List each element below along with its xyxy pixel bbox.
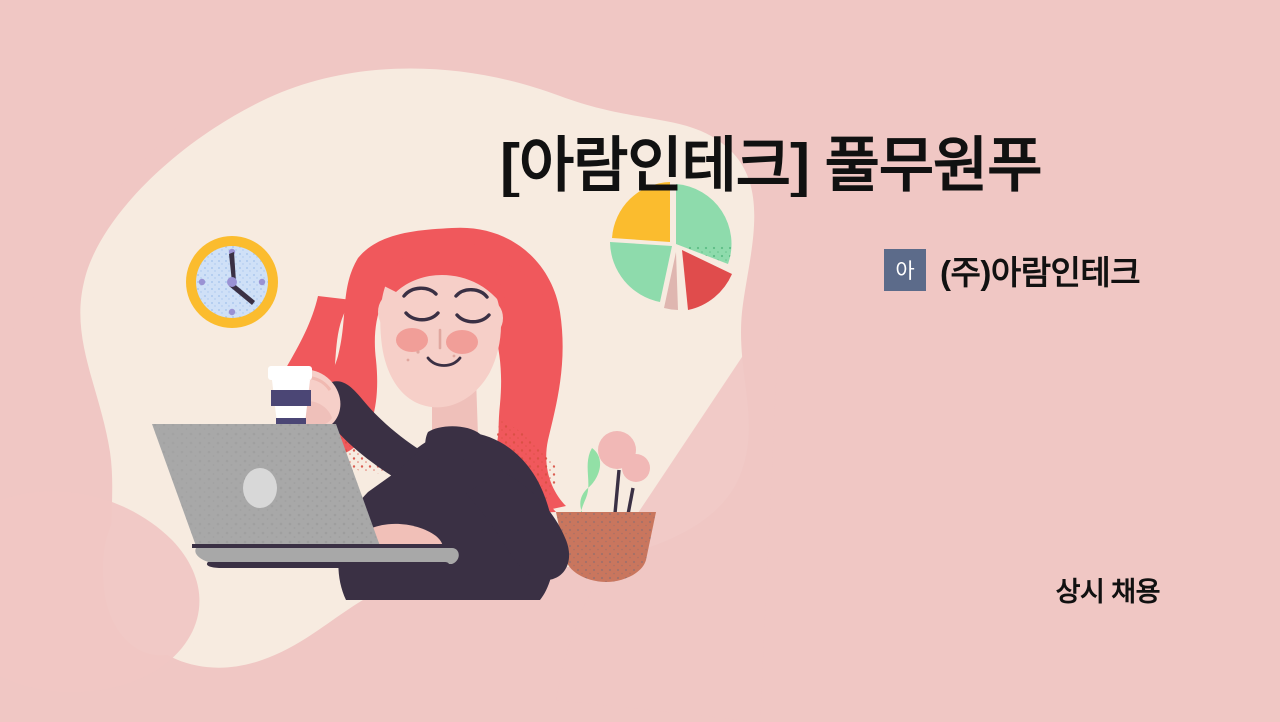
illustration-canvas <box>0 0 1280 722</box>
company-logo-badge: 아 <box>884 249 926 291</box>
clock-marker-left <box>199 279 205 285</box>
clock-marker-bottom <box>229 309 235 315</box>
cup-lid <box>268 366 312 380</box>
freckle-c <box>453 355 456 358</box>
cup-band-upper <box>271 390 311 406</box>
ear-right <box>477 301 503 335</box>
clock-center-pin <box>227 277 237 287</box>
blush-right <box>446 330 478 354</box>
blush-left <box>396 328 428 352</box>
laptop-base-shadow <box>207 562 449 568</box>
page-title: [아람인테크] 풀무원푸 <box>500 134 1180 197</box>
hiring-type-badge: 상시 채용 <box>1056 570 1160 609</box>
freckle-a <box>416 350 419 353</box>
laptop-logo <box>243 468 277 508</box>
job-posting-banner: [아람인테크] 풀무원푸 아 (주)아람인테크 상시 채용 <box>0 0 1280 722</box>
clock-marker-right <box>259 279 265 285</box>
wall-clock <box>186 236 278 328</box>
ear-left <box>378 294 406 330</box>
flower-bloom-2 <box>622 454 650 482</box>
company-row[interactable]: 아 (주)아람인테크 <box>884 246 1140 294</box>
company-name: (주)아람인테크 <box>940 246 1140 294</box>
laptop-base <box>195 548 458 564</box>
freckle-b <box>407 359 410 362</box>
